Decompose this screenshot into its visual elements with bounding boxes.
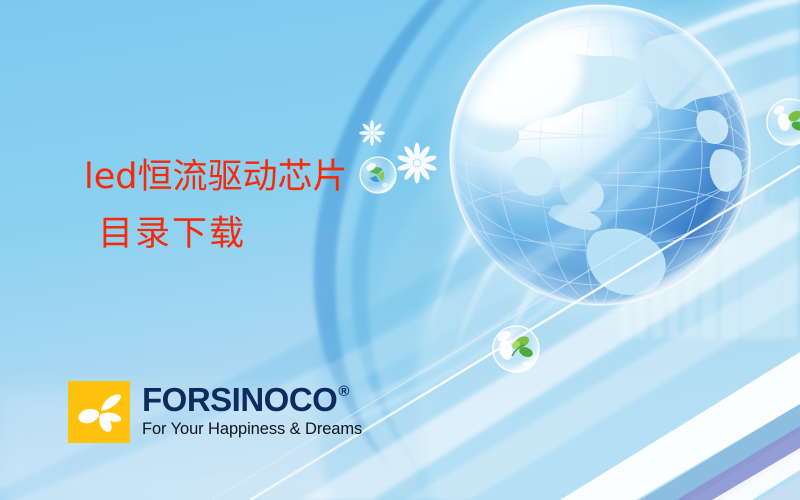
logo-tagline: For Your Happiness & Dreams [142, 421, 362, 438]
bubble-globe-small [360, 157, 396, 193]
registered-trademark-icon: ® [338, 384, 349, 399]
bubble-leaf-pinwheel [493, 326, 539, 372]
logo-wordmark: FORSINOCO ® [142, 383, 349, 416]
starburst-small [359, 120, 385, 146]
logo-text-block: FORSINOCO ® For Your Happiness & Dreams [142, 381, 362, 438]
four-petal-pinwheel-icon [68, 381, 130, 443]
logo-mark-square [68, 381, 130, 443]
company-logo: FORSINOCO ® For Your Happiness & Dreams [68, 381, 362, 443]
banner-canvas: led恒流驱动芯片 目录下载 FORSINOCO ® [0, 0, 800, 500]
logo-wordmark-text: FORSINOCO [142, 383, 337, 416]
